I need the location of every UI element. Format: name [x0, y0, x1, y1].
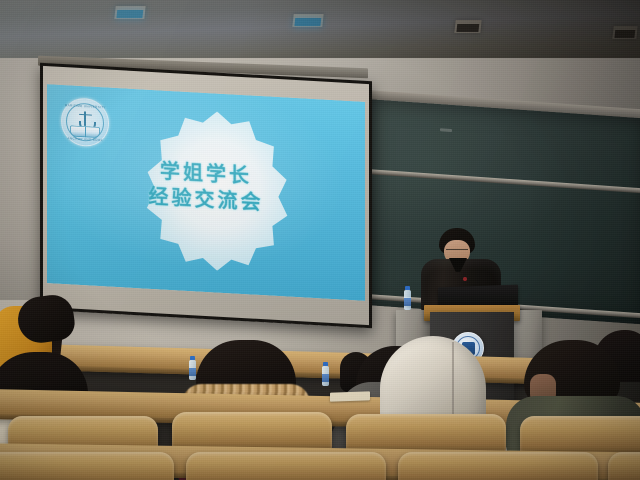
light-lens — [294, 18, 321, 26]
ceiling-light-1 — [114, 6, 145, 19]
presenter-badge — [463, 277, 467, 281]
projection-screen-surface: 学姐学长 经验交流会 MARITIME UNIVERSITY ANCHOR AN… — [47, 84, 365, 301]
slide-title: 学姐学长 经验交流会 — [47, 152, 365, 223]
chair-back — [608, 452, 640, 480]
presentation-slide: 学姐学长 经验交流会 MARITIME UNIVERSITY ANCHOR AN… — [47, 84, 365, 301]
chair-back — [186, 452, 386, 480]
chair-back — [172, 412, 332, 450]
light-lens — [456, 24, 479, 32]
chair-back — [520, 416, 640, 454]
chalk-ledge — [440, 128, 452, 132]
light-lens — [614, 30, 635, 38]
ceiling-light-2 — [292, 14, 323, 27]
seal-bottom-text: ANCHOR AND BOOK — [62, 136, 108, 143]
bottle-label — [404, 298, 411, 306]
projection-screen: 学姐学长 经验交流会 MARITIME UNIVERSITY ANCHOR AN… — [40, 63, 372, 329]
chair-back — [346, 414, 506, 452]
ceiling-light-4 — [612, 26, 637, 39]
eyeglasses-icon — [446, 249, 468, 255]
college-seal-icon: MARITIME UNIVERSITY ANCHOR AND BOOK — [61, 97, 109, 148]
chair-back — [0, 452, 174, 480]
lecture-hall-photo: 学姐学长 经验交流会 MARITIME UNIVERSITY ANCHOR AN… — [0, 0, 640, 480]
bottle-label — [322, 374, 329, 382]
light-lens — [116, 10, 143, 18]
chair-back — [398, 452, 598, 480]
ceiling — [0, 0, 640, 66]
ceiling-light-3 — [454, 20, 481, 33]
